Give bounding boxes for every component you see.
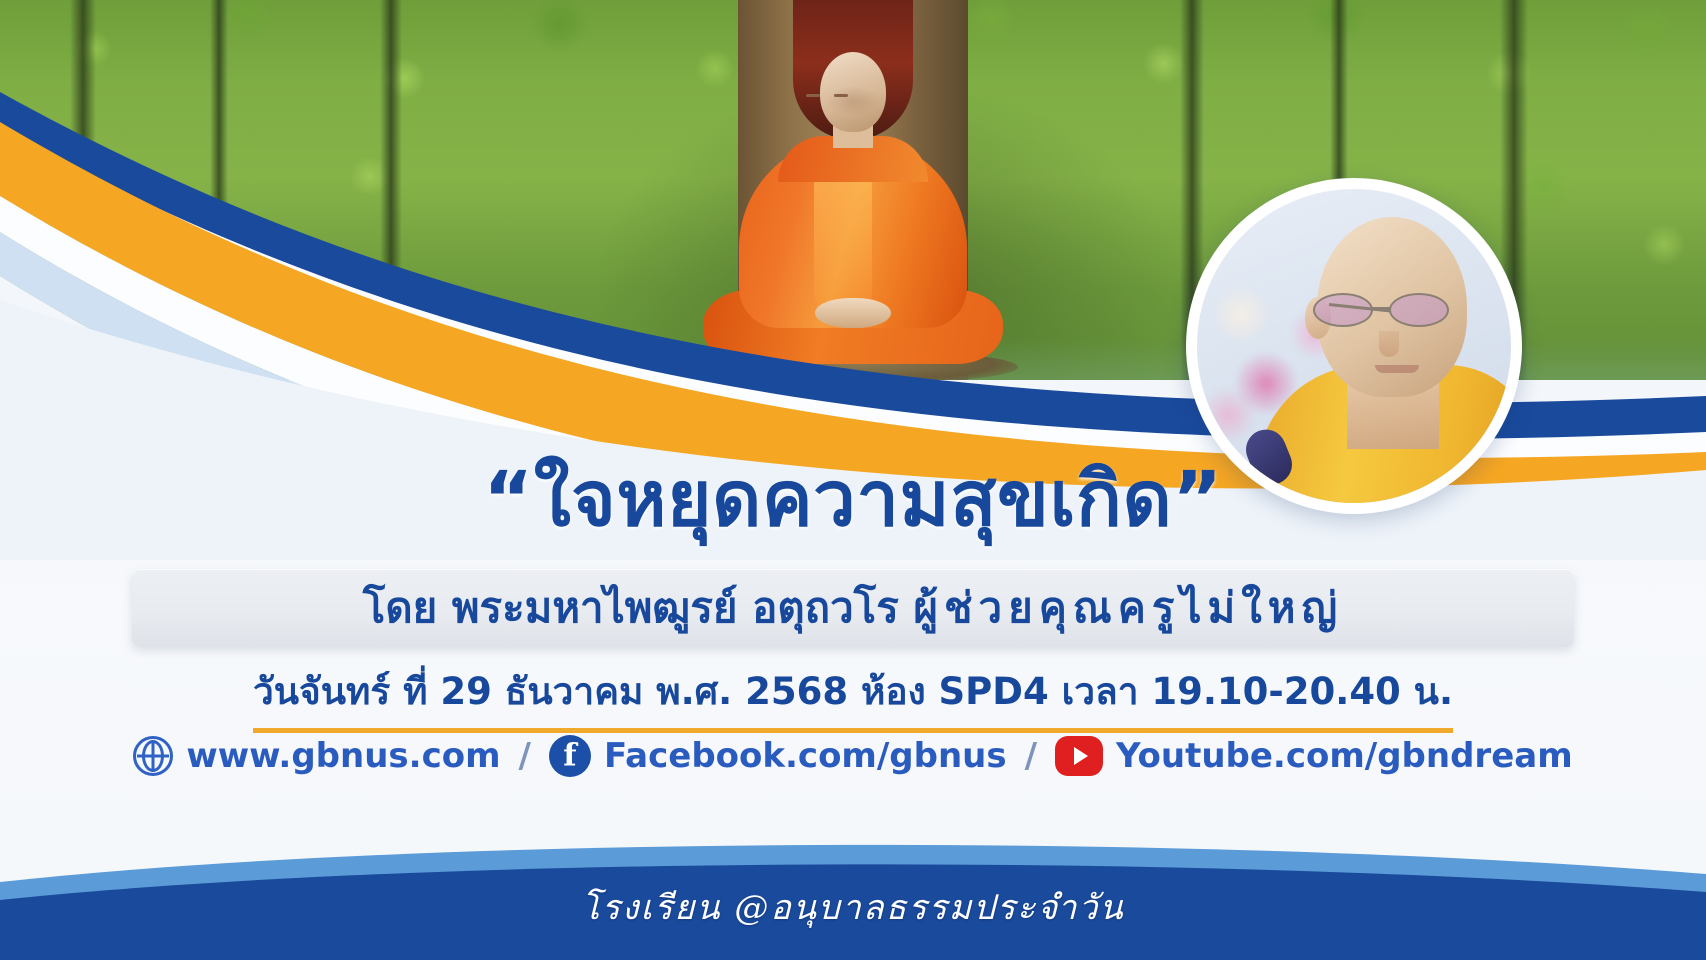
speaker-role: ผู้ช่วยคุณครูไม่ใหญ่ — [913, 583, 1343, 632]
youtube-icon — [1055, 736, 1103, 776]
meditating-monk-statue — [688, 52, 1018, 372]
statue-eye-right — [834, 94, 848, 97]
portrait-nose — [1379, 331, 1399, 357]
globe-icon — [133, 736, 173, 776]
statue-face-shading — [826, 86, 880, 116]
website-label: www.gbnus.com — [186, 736, 500, 776]
statue-hands — [815, 298, 891, 328]
portrait-mouth — [1375, 365, 1419, 373]
statue-eye-left — [806, 94, 820, 97]
social-links-row: www.gbnus.com / f Facebook.com/gbnus / Y… — [0, 735, 1706, 777]
event-date-time: วันจันทร์ ที่ 29 ธันวาคม พ.ศ. 2568 ห้อง … — [253, 662, 1453, 733]
facebook-label: Facebook.com/gbnus — [604, 736, 1007, 776]
speaker-text: โดย พระมหาไพฒูรย์ อตุถวโร ผู้ช่วยคุณครูไ… — [363, 575, 1343, 641]
youtube-link[interactable]: Youtube.com/gbndream — [1055, 736, 1573, 776]
facebook-glyph: f — [549, 741, 591, 772]
globe-ellipse — [142, 740, 164, 772]
page-title: “ใจหยุดความสุขเกิด” — [0, 458, 1706, 540]
facebook-icon: f — [549, 735, 591, 777]
eyeglass-lens-left — [1313, 293, 1373, 327]
eyeglass-lens-right — [1389, 293, 1449, 327]
website-link[interactable]: www.gbnus.com — [133, 736, 500, 776]
speaker-bar: โดย พระมหาไพฒูรย์ อตุถวโร ผู้ช่วยคุณครูไ… — [132, 569, 1574, 647]
portrait-image — [1197, 189, 1511, 503]
youtube-label: Youtube.com/gbndream — [1116, 736, 1573, 776]
date-line-wrapper: วันจันทร์ ที่ 29 ธันวาคม พ.ศ. 2568 ห้อง … — [0, 662, 1706, 733]
handwritten-signature: โรงเรียน @อนุบาลธรรมประจำวัน — [0, 880, 1706, 934]
separator-2: / — [1025, 736, 1037, 776]
speaker-name: โดย พระมหาไพฒูรย์ อตุถวโร — [363, 583, 914, 632]
separator-1: / — [519, 736, 531, 776]
facebook-link[interactable]: f Facebook.com/gbnus — [549, 735, 1007, 777]
event-poster: “ใจหยุดความสุขเกิด” โดย พระมหาไพฒูรย์ อต… — [0, 0, 1706, 960]
